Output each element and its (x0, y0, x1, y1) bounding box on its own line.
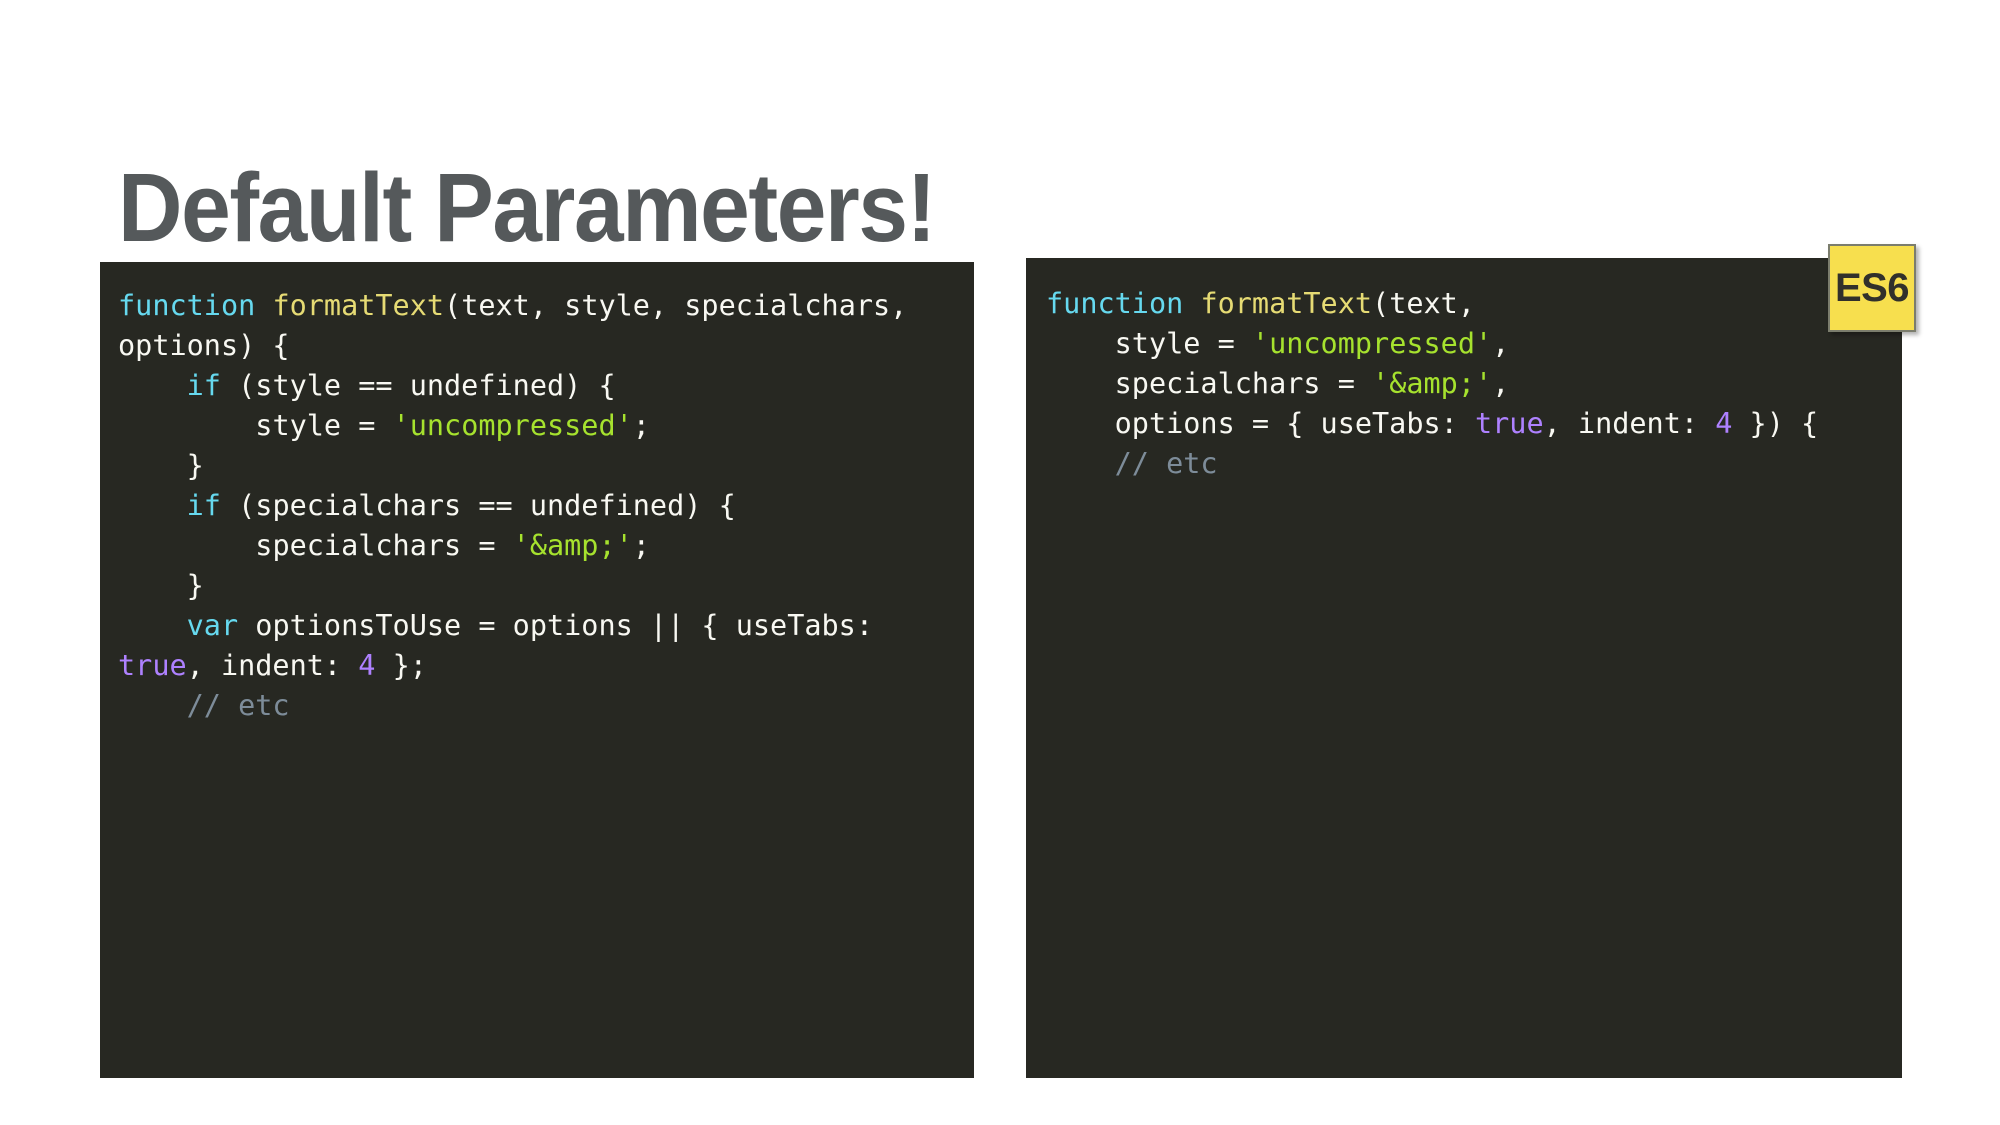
code-token-kw: var (187, 609, 238, 642)
code-token-comment: // etc (187, 689, 290, 722)
code-token-fn: formatText (272, 289, 444, 322)
code-token-kw: if (187, 489, 221, 522)
code-token-num: 4 (1715, 407, 1732, 440)
code-token-plain: , indent: (187, 649, 359, 682)
es6-badge: ES6 (1828, 244, 1916, 332)
code-token-str: '&amp;' (1372, 367, 1492, 400)
code-token-bool: true (1475, 407, 1544, 440)
code-token-kw: if (187, 369, 221, 402)
code-token-num: 4 (358, 649, 375, 682)
code-token-plain (1183, 287, 1200, 320)
page-title: Default Parameters! (118, 157, 935, 259)
code-token-bool: true (118, 649, 187, 682)
es5-code-panel: function formatText(text, style, special… (100, 262, 974, 1078)
code-token-kw: function (1046, 287, 1183, 320)
code-token-fn: formatText (1200, 287, 1372, 320)
slide-canvas: Default Parameters! function formatText(… (0, 0, 2000, 1125)
code-token-comment: // etc (1115, 447, 1218, 480)
es6-code-text: function formatText(text, style = 'uncom… (1046, 284, 1892, 484)
code-token-plain: , indent: (1544, 407, 1716, 440)
es6-badge-label: ES6 (1835, 268, 1909, 308)
es6-code-panel: function formatText(text, style = 'uncom… (1026, 258, 1902, 1078)
code-token-str: '&amp;' (513, 529, 633, 562)
code-token-plain (255, 289, 272, 322)
code-token-kw: function (118, 289, 255, 322)
code-token-plain: optionsToUse = options || { useTabs: (238, 609, 890, 642)
es5-code-text: function formatText(text, style, special… (118, 286, 964, 726)
code-token-str: 'uncompressed' (393, 409, 633, 442)
code-token-str: 'uncompressed' (1252, 327, 1492, 360)
